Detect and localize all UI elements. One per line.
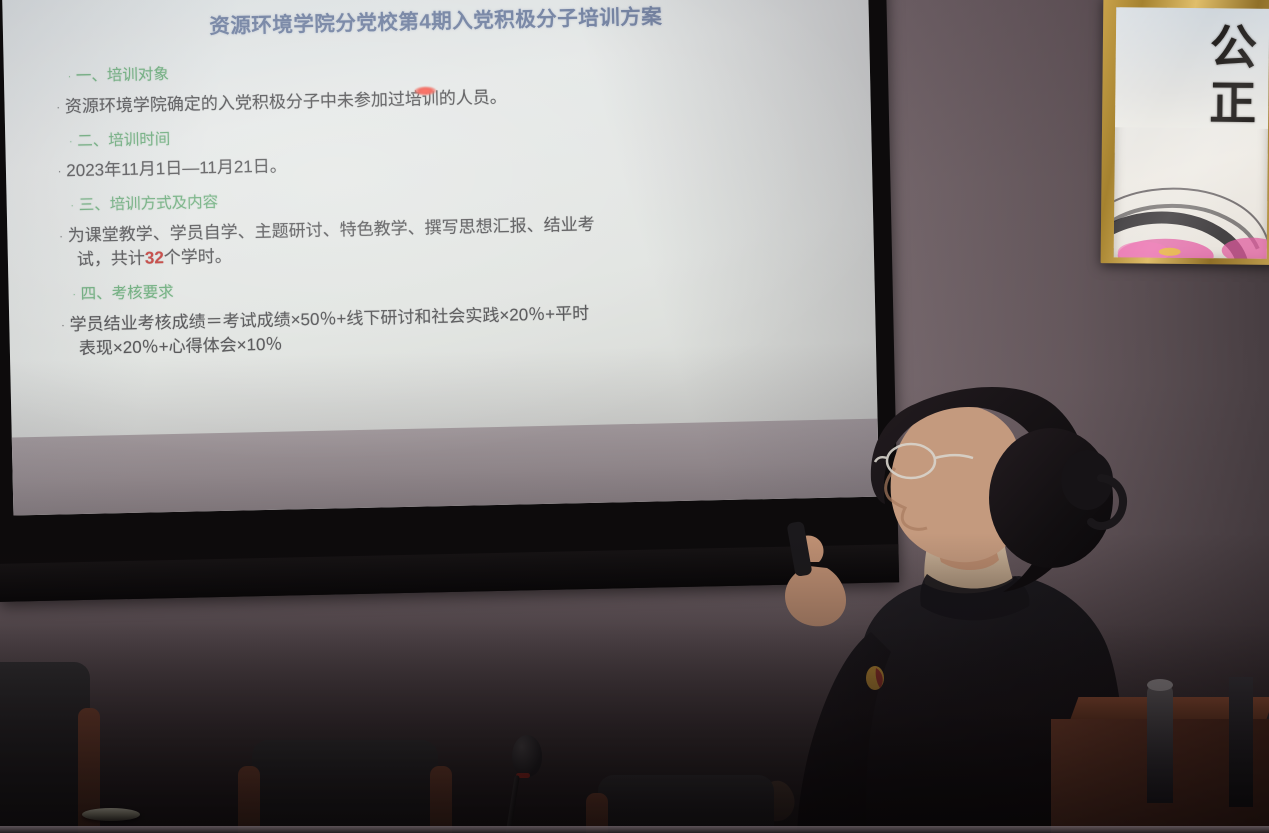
bullet-icon: · <box>56 102 60 113</box>
picture-frame: 公 正 <box>1101 0 1269 265</box>
conference-chair-left <box>0 662 90 833</box>
calligraphy-char-2: 正 <box>1209 80 1256 127</box>
slide-text-2-line: 2023年11月1日—11月21日。 <box>66 157 287 181</box>
conference-room-photo: 资源环境学院分党校第4期入党积极分子培训方案 ·一、培训对象 ·资源环境学院确定… <box>0 0 1269 833</box>
bullet-icon: · <box>73 289 76 299</box>
slide-heading-4-text: 四、考核要求 <box>80 284 173 303</box>
chair-seatback <box>0 662 90 833</box>
conference-chair-right <box>598 775 774 833</box>
bullet-icon: · <box>69 136 72 146</box>
mic-head <box>512 735 542 777</box>
bullet-icon: · <box>59 231 63 242</box>
slide-text-3-part-a: 试，共计 <box>77 249 145 269</box>
slide-text-4: ·学员结业考核成绩＝考试成绩×50％+线下研讨和社会实践×20％+平时 表现×2… <box>61 296 838 361</box>
slide-text-1-line: 资源环境学院确定的入党积极分子中未参加过培训的人员。 <box>65 87 507 116</box>
chair-arm <box>430 766 452 833</box>
slide-heading-1-text: 一、培训对象 <box>76 66 169 85</box>
bullet-icon: · <box>71 201 74 211</box>
slide-body: ·一、培训对象 ·资源环境学院确定的入党积极分子中未参加过培训的人员。 ·二、培… <box>56 52 839 376</box>
podium-equipment-column <box>1147 683 1173 803</box>
cup-lid <box>82 808 140 821</box>
slide-text-3-part-b: 个学时。 <box>164 247 232 267</box>
chair-seatback <box>252 740 438 833</box>
bottom-edge <box>0 826 1269 833</box>
slide-text-3: ·为课堂教学、学员自学、主题研讨、特色教学、撰写思想汇报、结业考 试，共计32个… <box>59 208 836 273</box>
picture-canvas: 公 正 <box>1114 7 1269 259</box>
slide-text-3-highlight: 32 <box>145 248 164 267</box>
podium-equipment-right <box>1229 677 1253 807</box>
slide-heading-2-text: 二、培训时间 <box>77 131 170 150</box>
framed-calligraphy: 公 正 <box>1101 0 1269 265</box>
conference-chair-center <box>252 740 438 833</box>
chair-seatback <box>598 775 774 833</box>
gooseneck-microphone <box>498 735 568 833</box>
slide-title: 资源环境学院分党校第4期入党积极分子培训方案 <box>3 0 869 44</box>
bullet-icon: · <box>68 71 71 81</box>
ink-wash-lotus-motif <box>1114 151 1269 259</box>
mic-stem <box>505 775 520 833</box>
bullet-icon: · <box>58 167 62 178</box>
slide-heading-3-text: 三、培训方式及内容 <box>79 194 219 214</box>
podium-equipment-cap <box>1147 679 1173 691</box>
bullet-icon: · <box>61 320 65 331</box>
calligraphy-char-1: 公 <box>1210 24 1257 71</box>
chair-arm <box>238 766 260 833</box>
wooden-podium <box>1051 683 1269 833</box>
